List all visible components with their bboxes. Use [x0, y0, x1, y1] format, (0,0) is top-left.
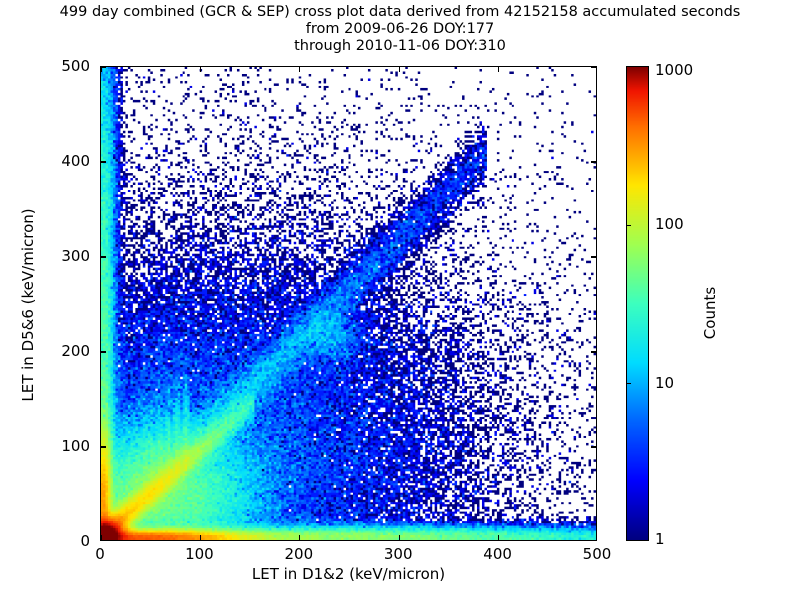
y-tick-200: [101, 351, 106, 352]
x-tick-label-400: 400: [483, 545, 512, 563]
y-tick-300: [591, 256, 596, 257]
x-tick-400: [498, 67, 499, 72]
y-tick-100: [591, 446, 596, 447]
y-tick-300: [101, 256, 106, 257]
x-tick-300: [399, 67, 400, 72]
x-tick-0: [100, 67, 101, 72]
colorbar-tick-label-10: 10: [655, 374, 674, 392]
colorbar: [626, 66, 649, 541]
plot-title: 499 day combined (GCR & SEP) cross plot …: [0, 4, 800, 55]
x-tick-100: [200, 67, 201, 72]
x-tick-label-100: 100: [185, 545, 214, 563]
plot-axes: [100, 66, 597, 541]
x-tick-0: [100, 535, 101, 540]
colorbar-tick-100: [627, 225, 631, 226]
y-tick-200: [591, 351, 596, 352]
x-tick-300: [399, 535, 400, 540]
x-tick-400: [498, 535, 499, 540]
y-tick-100: [101, 446, 106, 447]
colorbar-tick-label-100: 100: [655, 215, 684, 233]
y-tick-label-0: 0: [80, 532, 90, 550]
x-tick-100: [200, 535, 201, 540]
scatter-density-plot: [101, 67, 596, 540]
colorbar-label: Counts: [701, 203, 719, 423]
y-tick-label-200: 200: [61, 342, 90, 360]
y-tick-label-100: 100: [61, 437, 90, 455]
x-tick-label-0: 0: [95, 545, 105, 563]
title-line-2: from 2009-06-26 DOY:177: [0, 21, 800, 38]
y-axis-label: LET in D5&6 (keV/micron): [19, 155, 37, 455]
colorbar-tick-label-1: 1: [655, 530, 665, 548]
colorbar-tick-10: [627, 383, 631, 384]
y-tick-400: [101, 161, 106, 162]
colorbar-gradient: [627, 67, 648, 540]
x-tick-200: [299, 67, 300, 72]
x-tick-label-500: 500: [583, 545, 612, 563]
x-axis-label: LET in D1&2 (keV/micron): [100, 565, 597, 583]
y-tick-label-500: 500: [61, 57, 90, 75]
x-tick-label-200: 200: [284, 545, 313, 563]
figure-canvas: 499 day combined (GCR & SEP) cross plot …: [0, 0, 800, 600]
x-tick-label-300: 300: [384, 545, 413, 563]
y-tick-label-400: 400: [61, 152, 90, 170]
x-tick-200: [299, 535, 300, 540]
y-tick-label-300: 300: [61, 247, 90, 265]
y-tick-400: [591, 161, 596, 162]
y-tick-500: [591, 66, 596, 67]
title-line-3: through 2010-11-06 DOY:310: [0, 38, 800, 55]
y-tick-500: [101, 66, 106, 67]
colorbar-tick-label-1000: 1000: [655, 61, 693, 79]
title-line-1: 499 day combined (GCR & SEP) cross plot …: [0, 4, 800, 21]
